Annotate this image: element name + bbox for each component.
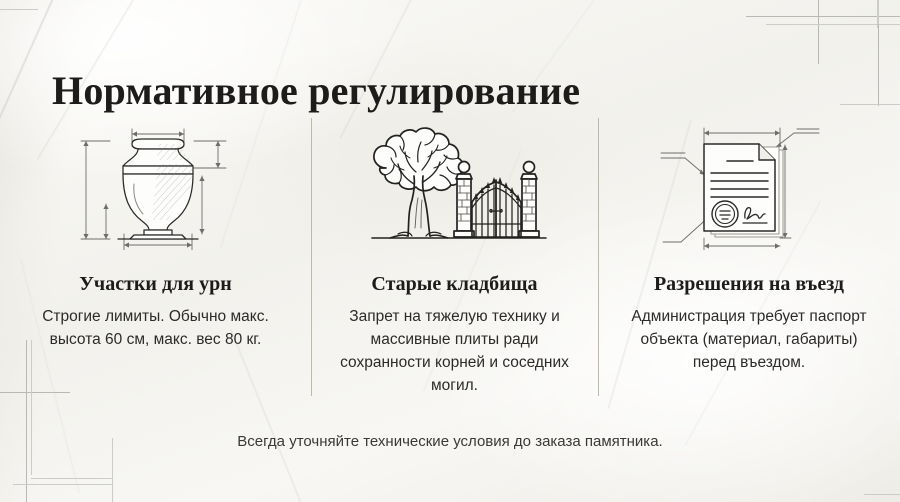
corner-grid-line bbox=[864, 494, 900, 495]
corner-grid-line bbox=[767, 24, 879, 25]
card-body: Строгие лимиты. Обычно макс. высота 60 с… bbox=[42, 305, 270, 351]
slide-canvas: Нормативное регулирование bbox=[0, 0, 900, 502]
corner-grid-line bbox=[746, 16, 900, 17]
cards-row: Участки для урн Строгие лимиты. Обычно м… bbox=[0, 118, 900, 408]
card-heading: Разрешения на въезд bbox=[654, 272, 844, 296]
corner-grid-line bbox=[877, 0, 878, 28]
corner-grid-line bbox=[0, 9, 38, 10]
corner-grid-line bbox=[31, 478, 113, 479]
card-urn-plots: Участки для урн Строгие лимиты. Обычно м… bbox=[0, 118, 311, 408]
card-body: Запрет на тяжелую технику и массивные пл… bbox=[335, 305, 575, 397]
permit-document-with-seal-icon bbox=[639, 120, 859, 250]
footer-note: Всегда уточняйте технические условия до … bbox=[0, 432, 900, 452]
tree-and-cemetery-gate-icon bbox=[346, 120, 564, 250]
corner-grid-line bbox=[840, 104, 900, 105]
card-old-cemeteries: Старые кладбища Запрет на тяжелую техник… bbox=[311, 118, 598, 408]
corner-grid-line bbox=[818, 0, 819, 64]
corner-grid-line bbox=[878, 24, 879, 106]
urn-technical-drawing-icon bbox=[66, 120, 246, 250]
card-heading: Старые кладбища bbox=[371, 272, 537, 296]
card-heading: Участки для урн bbox=[79, 272, 232, 296]
page-title: Нормативное регулирование bbox=[52, 67, 580, 115]
corner-grid-line bbox=[766, 24, 900, 25]
corner-grid-line bbox=[878, 0, 879, 106]
card-body: Администрация требует паспорт объекта (м… bbox=[627, 305, 871, 374]
corner-grid-line bbox=[13, 484, 113, 485]
card-entry-permits: Разрешения на въезд Администрация требуе… bbox=[598, 118, 900, 408]
